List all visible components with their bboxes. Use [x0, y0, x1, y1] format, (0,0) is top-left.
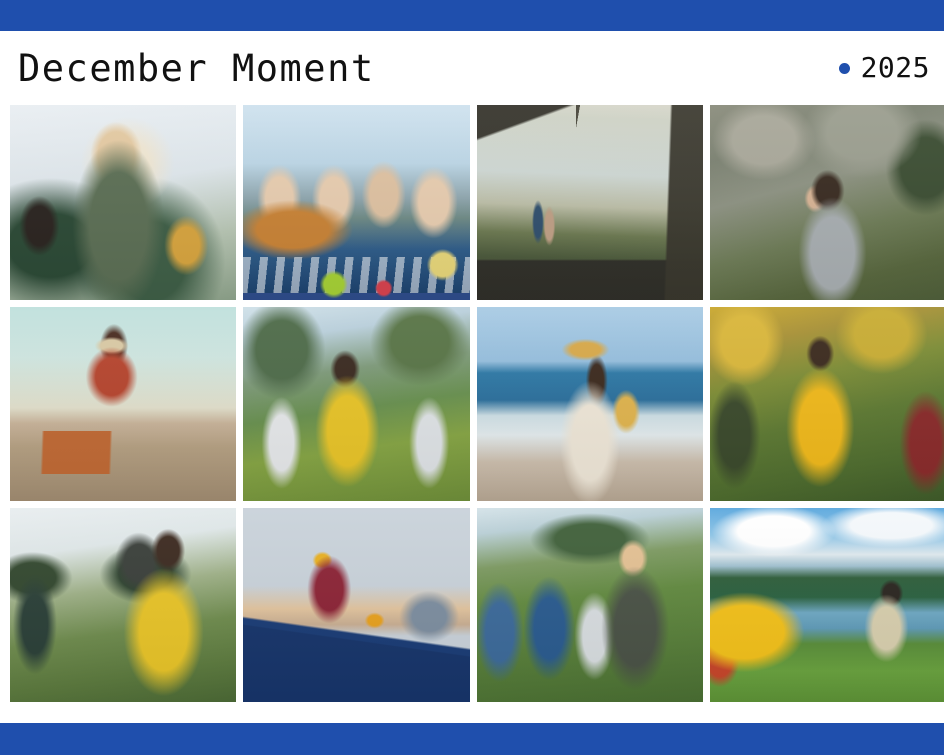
photo-shade	[477, 508, 703, 702]
photo-shade	[477, 105, 703, 300]
photo-tile[interactable]: Bearded backpacker leading a group of hi…	[10, 508, 236, 702]
photo-tile[interactable]: Couple standing on a dune seen through t…	[477, 105, 703, 300]
poster-page: December Moment 2025 Group of hikers tak…	[0, 0, 944, 755]
photo-shade	[10, 508, 236, 702]
photo-tile[interactable]: Camper relaxing in a folding chair besid…	[710, 508, 944, 702]
photo-tile[interactable]: Woman in a straw hat sitting on a vintag…	[10, 307, 236, 501]
photo-shade	[710, 508, 944, 702]
photo-tile[interactable]: Friends cheering with raised arms at a s…	[243, 105, 470, 300]
photo-shade	[710, 105, 944, 300]
year-label: 2025	[861, 54, 930, 82]
photo-shade	[243, 307, 470, 501]
bottom-brand-bar	[0, 723, 944, 755]
photo-grid: Group of hikers taking a selfie with tre…	[10, 105, 944, 702]
photo-shade	[10, 307, 236, 501]
page-header: December Moment 2025	[0, 31, 944, 105]
photo-shade	[477, 307, 703, 501]
year-badge: 2025	[839, 54, 932, 82]
photo-shade	[710, 307, 944, 501]
photo-tile[interactable]: Woman in a sun hat and floral dress look…	[477, 307, 703, 501]
photo-tile[interactable]: Man with a backpack holding a drone cont…	[710, 105, 944, 300]
photo-tile[interactable]: Group of hikers taking a selfie with tre…	[10, 105, 236, 300]
bullet-dot-icon	[839, 63, 850, 74]
top-brand-bar	[0, 0, 944, 31]
photo-tile[interactable]: Traveler in a yellow beanie sitting on a…	[243, 508, 470, 702]
photo-tile[interactable]: Young hikers with blue backpacks walking…	[477, 508, 703, 702]
photo-tile[interactable]: Hikers in autumn forest, man in a yellow…	[710, 307, 944, 501]
page-title: December Moment	[18, 50, 375, 87]
photo-shade	[243, 508, 470, 702]
photo-shade	[243, 105, 470, 300]
photo-tile[interactable]: Smiling group of backpackers hiking acro…	[243, 307, 470, 501]
photo-shade	[10, 105, 236, 300]
